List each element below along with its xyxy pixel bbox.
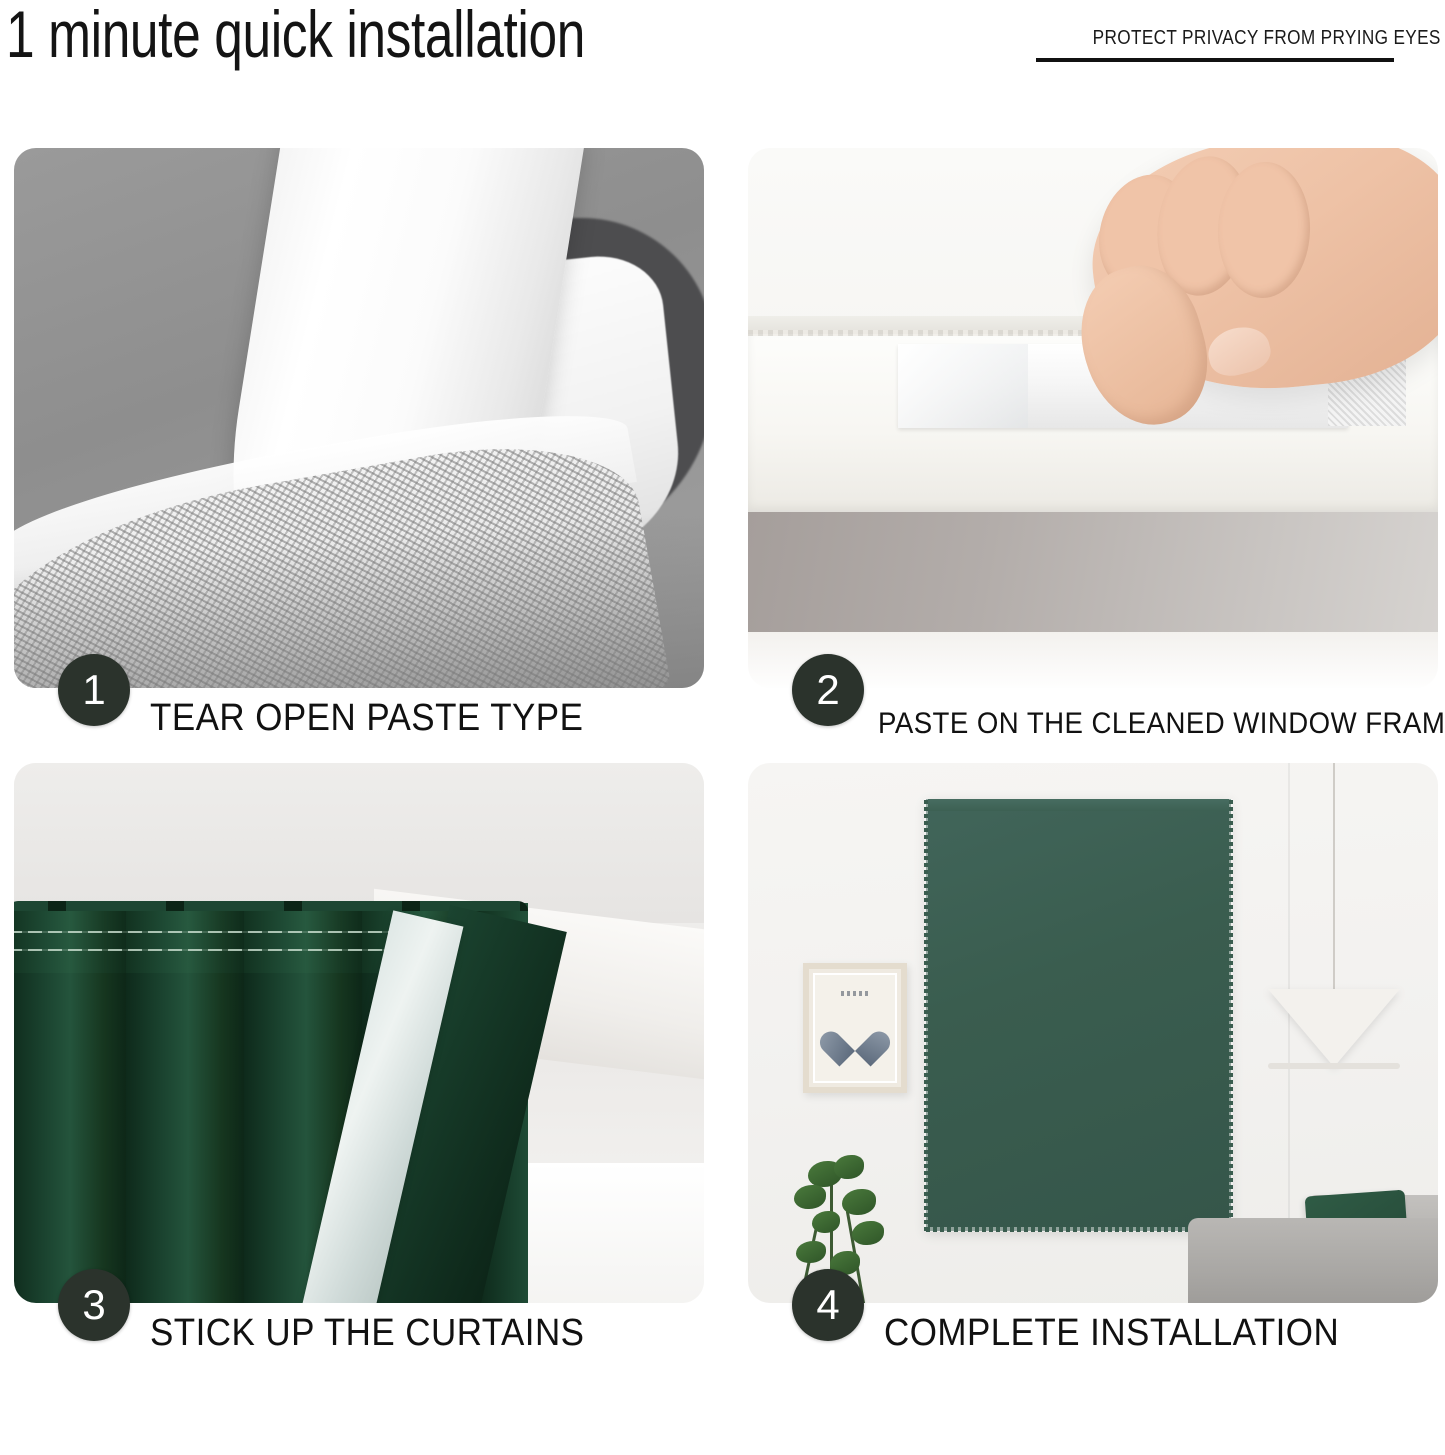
step-3-photo bbox=[14, 763, 704, 1303]
step-3-number-badge: 3 bbox=[58, 1269, 130, 1341]
step-3-caption: 3 STICK UP THE CURTAINS bbox=[14, 1303, 704, 1375]
tagline-block: PROTECT PRIVACY FROM PRYING EYES bbox=[1036, 26, 1441, 62]
step-1-caption: 1 TEAR OPEN PASTE TYPE bbox=[14, 688, 704, 760]
heart-icon bbox=[833, 1017, 877, 1057]
photo4-lamp-rim bbox=[1268, 1063, 1400, 1069]
step-2-number-badge: 2 bbox=[792, 654, 864, 726]
photo4-curtain-edge-left bbox=[924, 799, 928, 1231]
step-2-photo bbox=[748, 148, 1438, 688]
photo4-art-caption bbox=[841, 991, 869, 996]
photo4-pendant-lamp bbox=[1268, 989, 1400, 1067]
step-1-label: TEAR OPEN PASTE TYPE bbox=[150, 692, 583, 744]
photo2-strip-gloss bbox=[898, 344, 1028, 428]
step-card-3: 3 STICK UP THE CURTAINS bbox=[14, 763, 704, 1375]
tagline-text: PROTECT PRIVACY FROM PRYING EYES bbox=[1093, 26, 1441, 50]
photo2-grey-wall bbox=[748, 512, 1438, 632]
photo4-plant-leaf bbox=[834, 1155, 864, 1179]
step-card-4: 4 COMPLETE INSTALLATION bbox=[748, 763, 1438, 1375]
step-4-photo bbox=[748, 763, 1438, 1303]
step-2-caption: 2 PASTE ON THE CLEANED WINDOW FRAME bbox=[748, 688, 1438, 760]
step-4-number-badge: 4 bbox=[792, 1269, 864, 1341]
step-4-label: COMPLETE INSTALLATION bbox=[884, 1307, 1339, 1359]
photo4-art-mat bbox=[813, 973, 897, 1083]
photo4-lamp-cord bbox=[1333, 763, 1335, 991]
step-1-photo bbox=[14, 148, 704, 688]
photo4-sofa-seat bbox=[1188, 1218, 1438, 1303]
photo3-wall bbox=[14, 763, 704, 923]
photo4-plant-leaf bbox=[852, 1221, 884, 1245]
step-4-caption: 4 COMPLETE INSTALLATION bbox=[748, 1303, 1438, 1375]
tagline-underline bbox=[1036, 58, 1394, 62]
page-title: 1 minute quick installation bbox=[6, 0, 585, 72]
photo4-curtain-edge-right bbox=[1229, 799, 1233, 1231]
photo4-curtain-panel bbox=[926, 799, 1231, 1231]
photo4-plant-leaf bbox=[842, 1189, 876, 1215]
step-card-1: 1 TEAR OPEN PASTE TYPE bbox=[14, 148, 704, 760]
step-3-label: STICK UP THE CURTAINS bbox=[150, 1307, 584, 1359]
photo4-wall-art-frame bbox=[803, 963, 907, 1093]
photo4-plant-leaf bbox=[812, 1211, 840, 1233]
step-card-2: 2 PASTE ON THE CLEANED WINDOW FRAME bbox=[748, 148, 1438, 760]
header: 1 minute quick installation PROTECT PRIV… bbox=[0, 0, 1445, 140]
step-1-number-badge: 1 bbox=[58, 654, 130, 726]
photo4-plant-leaf bbox=[796, 1241, 826, 1263]
steps-grid: 1 TEAR OPEN PASTE TYPE 2 PASTE ON THE CL… bbox=[0, 140, 1445, 1455]
photo4-curtain-edge-bottom bbox=[926, 1227, 1231, 1232]
photo4-plant-leaf bbox=[794, 1185, 826, 1209]
step-2-label: PASTE ON THE CLEANED WINDOW FRAME bbox=[878, 698, 1445, 750]
photo4-curtain-top-band bbox=[926, 799, 1231, 811]
